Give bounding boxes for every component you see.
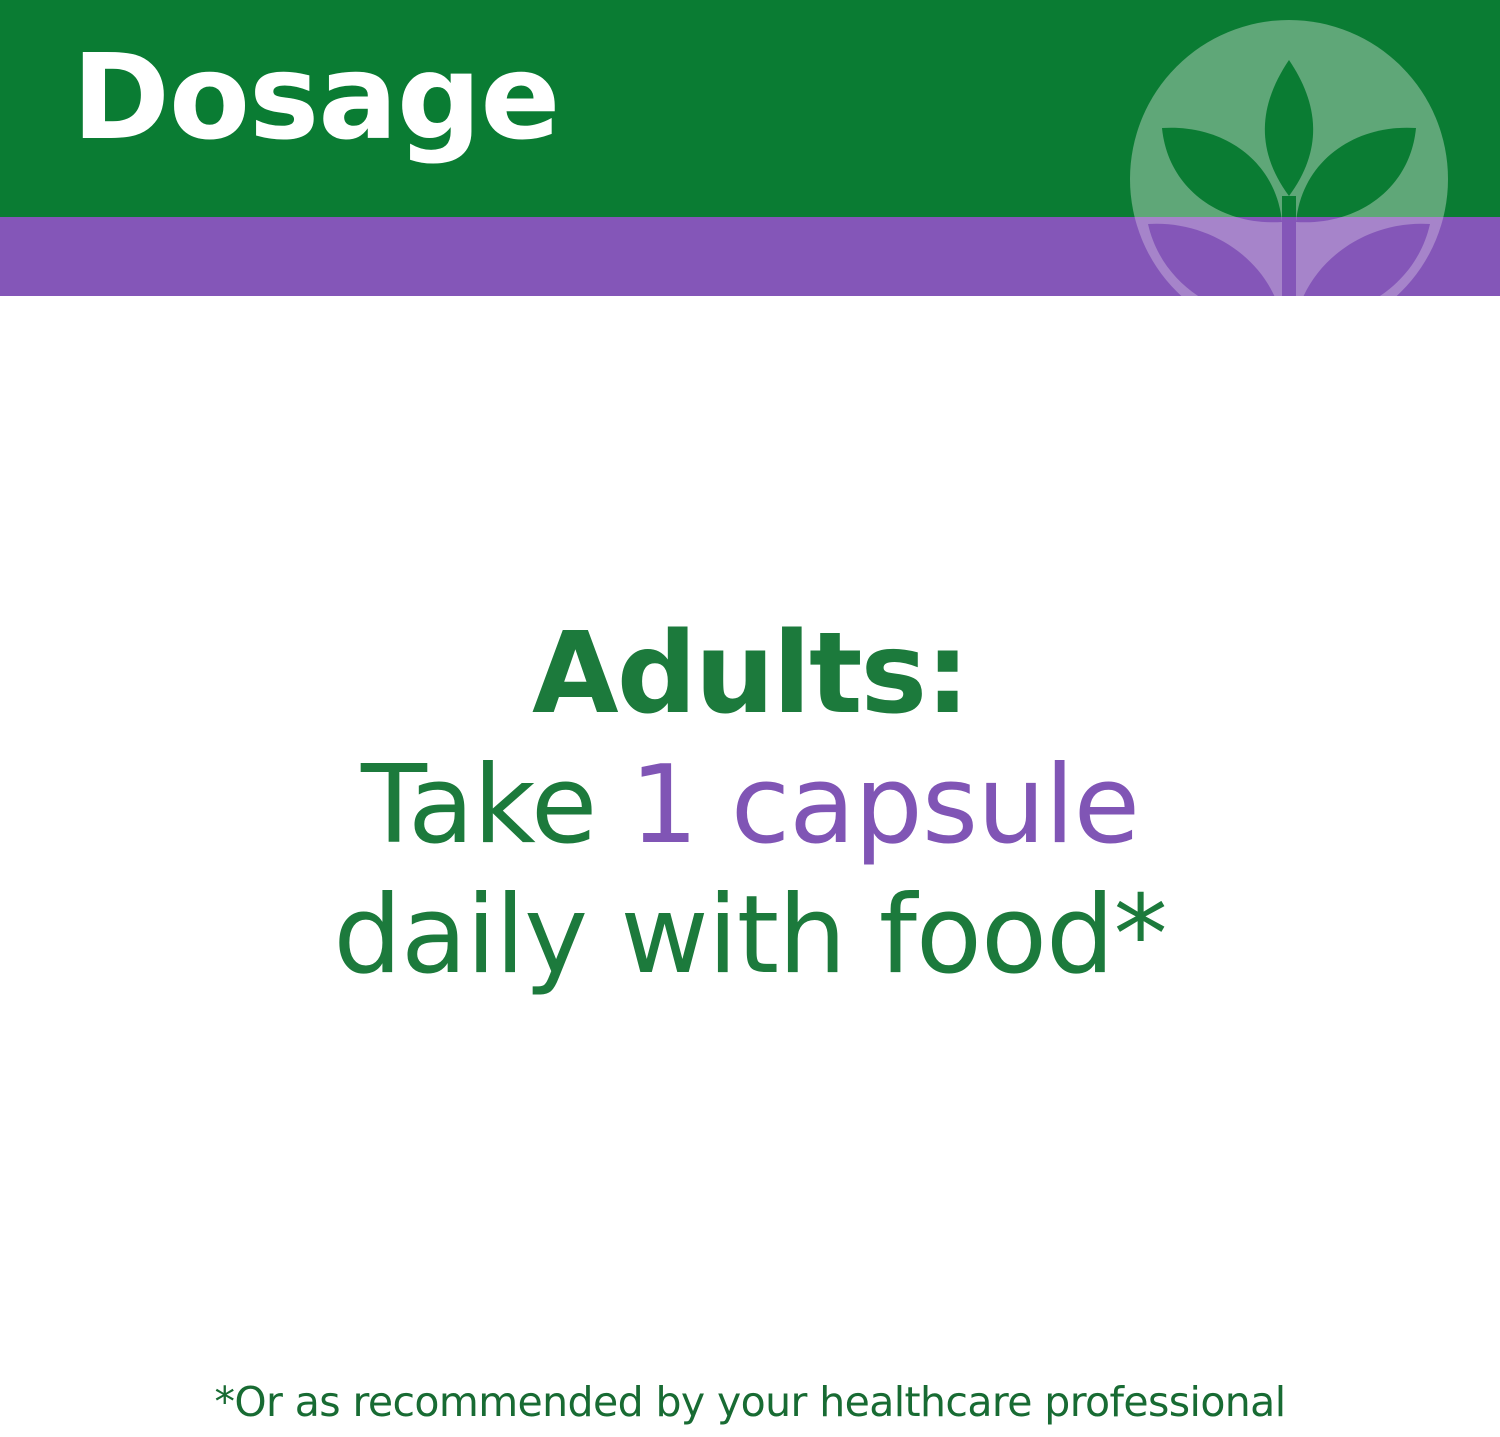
dosage-amount-line: Take 1 capsule (0, 752, 1500, 860)
dosage-frequency-line: daily with food* (0, 882, 1500, 990)
dosage-amount-prefix: Take (361, 743, 630, 868)
dosage-instruction: Adults: Take 1 capsule daily with food* (0, 618, 1500, 990)
page-title: Dosage (72, 38, 559, 156)
dosage-amount-accent: 1 capsule (630, 743, 1139, 868)
dosage-panel: Dosage Adults: Take 1 capsule daily with… (0, 0, 1500, 1437)
dosage-audience-label: Adults: (0, 618, 1500, 730)
footnote-disclaimer: *Or as recommended by your healthcare pr… (0, 1382, 1500, 1423)
plant-sprout-logo (1130, 20, 1448, 296)
